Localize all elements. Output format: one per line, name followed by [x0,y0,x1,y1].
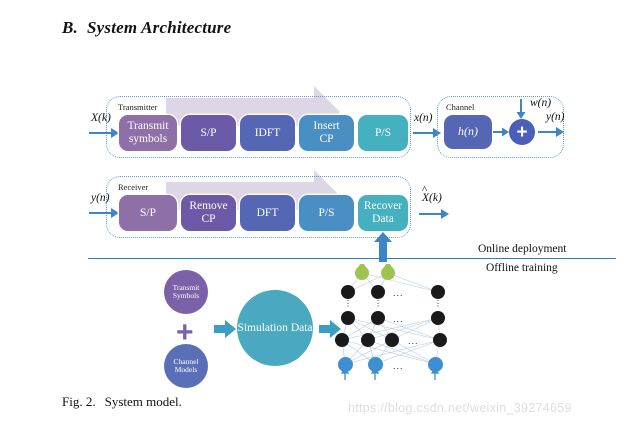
channel-output-arrow [538,126,564,138]
section-heading-text: System Architecture [87,18,231,37]
rx-block-5-label-1: Recover [364,200,402,213]
nn-ellipsis-h3: ... [408,336,419,346]
tx-block-insert-cp[interactable]: Insert CP [299,115,354,151]
nn-node-output-2 [381,266,395,280]
tx-block-1-label-2: symbols [127,133,168,146]
nn-node-output-1 [355,266,369,280]
tx-block-ps[interactable]: P/S [358,115,408,151]
tx-block-idft[interactable]: IDFT [240,115,295,151]
rx-block-ps[interactable]: P/S [299,195,354,231]
nn-ellipsis-h2: ... [393,314,404,324]
offline-ch-label-2: Models [175,365,198,374]
rx-block-recover-data[interactable]: Recover Data [358,195,408,231]
nn-node-h2-2 [371,311,385,325]
tx-block-2-label-1: S/P [201,127,217,140]
figure-number: Fig. 2. [62,394,96,409]
offline-transmit-symbols-circle[interactable]: Transmit Symbols [164,270,208,314]
nn-vertical-ellipsis-2: ⋮ [373,302,383,305]
transmitter-output-label: x(n) [414,112,433,124]
offline-phase-label: Offline training [486,262,558,274]
channel-noise-arrow [515,99,527,119]
nn-node-input-2 [368,357,383,372]
nn-node-h1-3 [431,285,445,299]
tx-block-5-label-1: P/S [375,127,391,140]
nn-node-h1-2 [371,285,385,299]
receiver-output-label: X(k) [422,192,442,204]
receiver-input-label: y(n) [91,192,110,204]
phase-divider-line [88,258,616,259]
nn-node-h2-3 [431,311,445,325]
nn-node-input-1 [338,357,353,372]
transmitter-input-label: X(k) [91,112,111,124]
nn-vertical-ellipsis-3: ⋮ [433,302,443,305]
channel-to-adder-arrow [493,126,509,138]
receiver-input-arrow [89,207,119,219]
nn-node-h3-3 [385,333,399,347]
tx-block-3-label-1: IDFT [255,127,281,140]
rx-block-3-label-1: DFT [257,207,279,220]
neural-network-diagram: ... ⋮ ⋮ ⋮ ... ... ... [330,264,465,382]
nn-vertical-ellipsis-1: ⋮ [343,302,353,305]
tx-block-sp[interactable]: S/P [181,115,236,151]
rx-block-2-label-2: CP [189,213,227,226]
tx-block-4-label-2: CP [313,133,339,146]
nn-node-h3-2 [361,333,375,347]
channel-adder: + [509,119,535,145]
rx-block-dft[interactable]: DFT [240,195,295,231]
nn-node-h3-4 [433,333,447,347]
tx-block-4-label-1: Insert [313,120,339,133]
offline-to-simulation-arrow [214,320,236,338]
receiver-group-label: Receiver [118,182,148,192]
watermark: https://blog.csdn.net/weixin_39274659 [348,401,572,415]
rx-block-5-label-2: Data [364,213,402,226]
rx-block-sp[interactable]: S/P [119,195,177,231]
offline-sim-label-1: Simulation [237,322,287,334]
channel-impulse-response-block[interactable]: h(n) [444,115,492,149]
receiver-output-arrow [419,208,449,220]
section-heading: B.System Architecture [62,18,231,38]
rx-block-2-label-1: Remove [189,200,227,213]
figure-caption: Fig. 2.System model. [62,394,182,410]
nn-node-h2-1 [341,311,355,325]
offline-sim-label-2: Data [291,322,313,334]
channel-noise-label: w(n) [530,97,551,109]
tx-block-transmit-symbols[interactable]: Transmit symbols [119,115,177,151]
transmitter-group-label: Transmitter [118,102,157,112]
offline-channel-models-circle[interactable]: Channel Models [164,344,208,388]
figure-system-model: Transmitter X(k) Transmit symbols S/P ID… [0,82,627,382]
figure-caption-text: System model. [105,394,182,409]
offline-tx-label-2: Symbols [173,291,199,300]
offline-simulation-data-circle[interactable]: Simulation Data [237,290,313,366]
nn-node-h1-1 [341,285,355,299]
tx-block-1-label-1: Transmit [127,120,168,133]
nn-node-h3-1 [335,333,349,347]
channel-adder-symbol: + [516,123,527,142]
channel-block-label: h(n) [458,125,478,138]
nn-ellipsis-input: ... [393,361,404,371]
rx-block-remove-cp[interactable]: Remove CP [181,195,236,231]
section-heading-lead: B. [62,18,78,37]
channel-group-label: Channel [446,102,474,112]
channel-output-label: y(n) [546,111,565,123]
rx-block-4-label-1: P/S [319,207,335,220]
nn-ellipsis-h1: ... [393,288,404,298]
rx-block-1-label-1: S/P [140,207,156,220]
transmitter-input-arrow [89,127,119,139]
online-phase-label: Online deployment [478,243,566,255]
nn-node-input-3 [428,357,443,372]
